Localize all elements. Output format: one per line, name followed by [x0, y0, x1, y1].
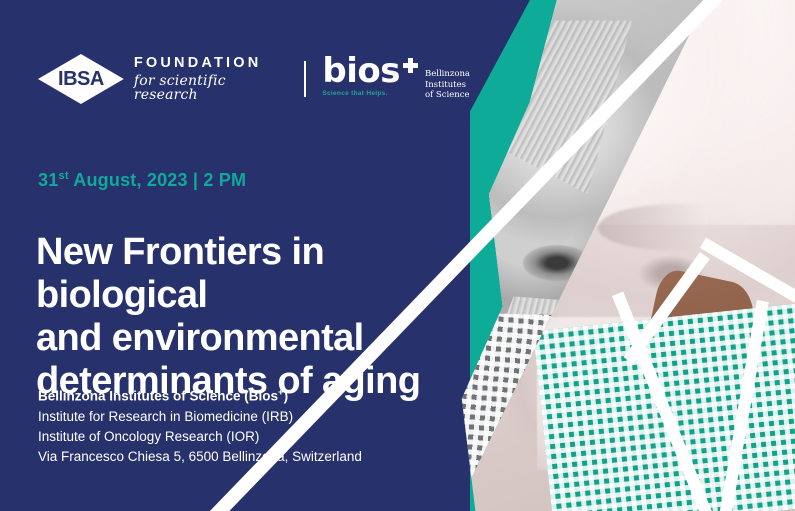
institute-line-1: Bellinzona	[425, 69, 470, 80]
ibsa-text-lockup: FOUNDATION for scientific research	[134, 56, 291, 102]
institute-line-2: Institutes	[425, 80, 470, 91]
event-poster: IBSA FOUNDATION for scientific research …	[0, 0, 795, 511]
ibsa-wordmark: IBSA	[58, 68, 104, 91]
page-title: New Frontiers in biological and environm…	[36, 231, 456, 403]
logo-bar: IBSA FOUNDATION for scientific research …	[38, 54, 470, 104]
bios-wordmark-row: bios	[322, 57, 418, 86]
ibsa-tagline: for scientific research	[134, 74, 291, 102]
logo-divider	[304, 61, 306, 97]
title-line-1: New Frontiers in biological	[36, 231, 456, 317]
ibsa-diamond-icon: IBSA	[38, 54, 124, 104]
bios-wordmark-block: bios Science that Helps.	[322, 57, 418, 97]
title-line-2: and environmental	[36, 317, 456, 360]
date-rest: August, 2023 | 2 PM	[69, 170, 246, 190]
date-ordinal: st	[58, 170, 68, 182]
bios-wordmark: bios	[322, 57, 400, 86]
plus-icon	[403, 58, 418, 73]
venue-block: Bellinzona Institutes of Science (Bios+)…	[38, 383, 458, 467]
venue-line-2: Institute for Research in Biomedicine (I…	[38, 407, 458, 427]
venue-line-4: Via Francesco Chiesa 5, 6500 Bellinzona,…	[38, 447, 458, 467]
event-date: 31st August, 2023 | 2 PM	[38, 170, 246, 191]
venue-line-3: Institute of Oncology Research (IOR)	[38, 427, 458, 447]
venue-line-1-text: Bellinzona Institutes of Science (Bios	[38, 389, 278, 404]
bios-logo[interactable]: bios Science that Helps. Bellinzona Inst…	[322, 57, 470, 101]
poster-content: IBSA FOUNDATION for scientific research …	[0, 0, 470, 511]
bios-tagline: Science that Helps.	[322, 90, 418, 97]
date-day: 31	[38, 170, 58, 190]
ibsa-foundation-logo[interactable]: IBSA FOUNDATION for scientific research	[38, 54, 290, 104]
venue-line-1: Bellinzona Institutes of Science (Bios+)	[38, 383, 458, 407]
bios-institute-name: Bellinzona Institutes of Science	[425, 69, 470, 101]
sculpture-brow	[598, 204, 748, 250]
institute-line-3: of Science	[425, 90, 470, 101]
venue-line-1-close: )	[284, 389, 289, 404]
ibsa-foundation-label: FOUNDATION	[134, 56, 291, 71]
